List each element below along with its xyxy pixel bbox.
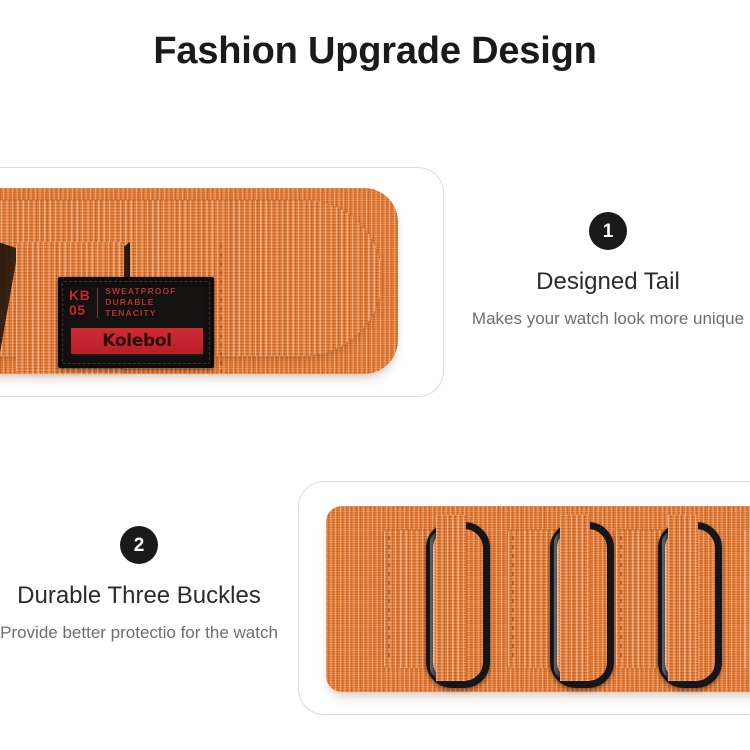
- strap-right-seam: [744, 530, 750, 668]
- callout-three-buckles: 2 Durable Three Buckles Provide better p…: [0, 526, 278, 645]
- buckle-overlap-3: [668, 515, 698, 681]
- stitch-line: [388, 536, 390, 662]
- callout-title-2: Durable Three Buckles: [0, 582, 278, 611]
- label-top-row: KB 05 SWEATPROOF DURABLE TENACITY: [60, 279, 212, 319]
- badge-number-1: 1: [589, 212, 627, 250]
- buckle-overlap-2: [560, 515, 590, 681]
- buckle-overlap-1: [436, 515, 466, 681]
- callout-designed-tail: 1 Designed Tail Makes your watch look mo…: [466, 212, 750, 331]
- stitch-line: [620, 536, 622, 662]
- label-divider: [97, 288, 98, 318]
- page-title: Fashion Upgrade Design: [0, 30, 750, 74]
- brand-name: Kolebol: [102, 331, 172, 351]
- stitch-line: [220, 244, 222, 372]
- label-product-code: KB 05: [69, 288, 90, 317]
- label-claims: SWEATPROOF DURABLE TENACITY: [105, 286, 176, 319]
- buckle-strap-webbing: [326, 506, 750, 692]
- stitch-line: [512, 536, 514, 662]
- callout-title-1: Designed Tail: [466, 268, 750, 297]
- callout-description-1: Makes your watch look more unique: [466, 307, 750, 331]
- strap-tail-webbing: KB 05 SWEATPROOF DURABLE TENACITY Kolebo…: [0, 200, 382, 356]
- photo-card-three-buckles: [298, 481, 750, 715]
- badge-number-2: 2: [120, 526, 158, 564]
- woven-brand-label: KB 05 SWEATPROOF DURABLE TENACITY Kolebo…: [58, 277, 214, 368]
- photo-card-designed-tail: KB 05 SWEATPROOF DURABLE TENACITY Kolebo…: [0, 167, 444, 397]
- label-brand-bar: Kolebol: [71, 328, 203, 354]
- callout-description-2: Provide better protectio for the watch: [0, 621, 278, 645]
